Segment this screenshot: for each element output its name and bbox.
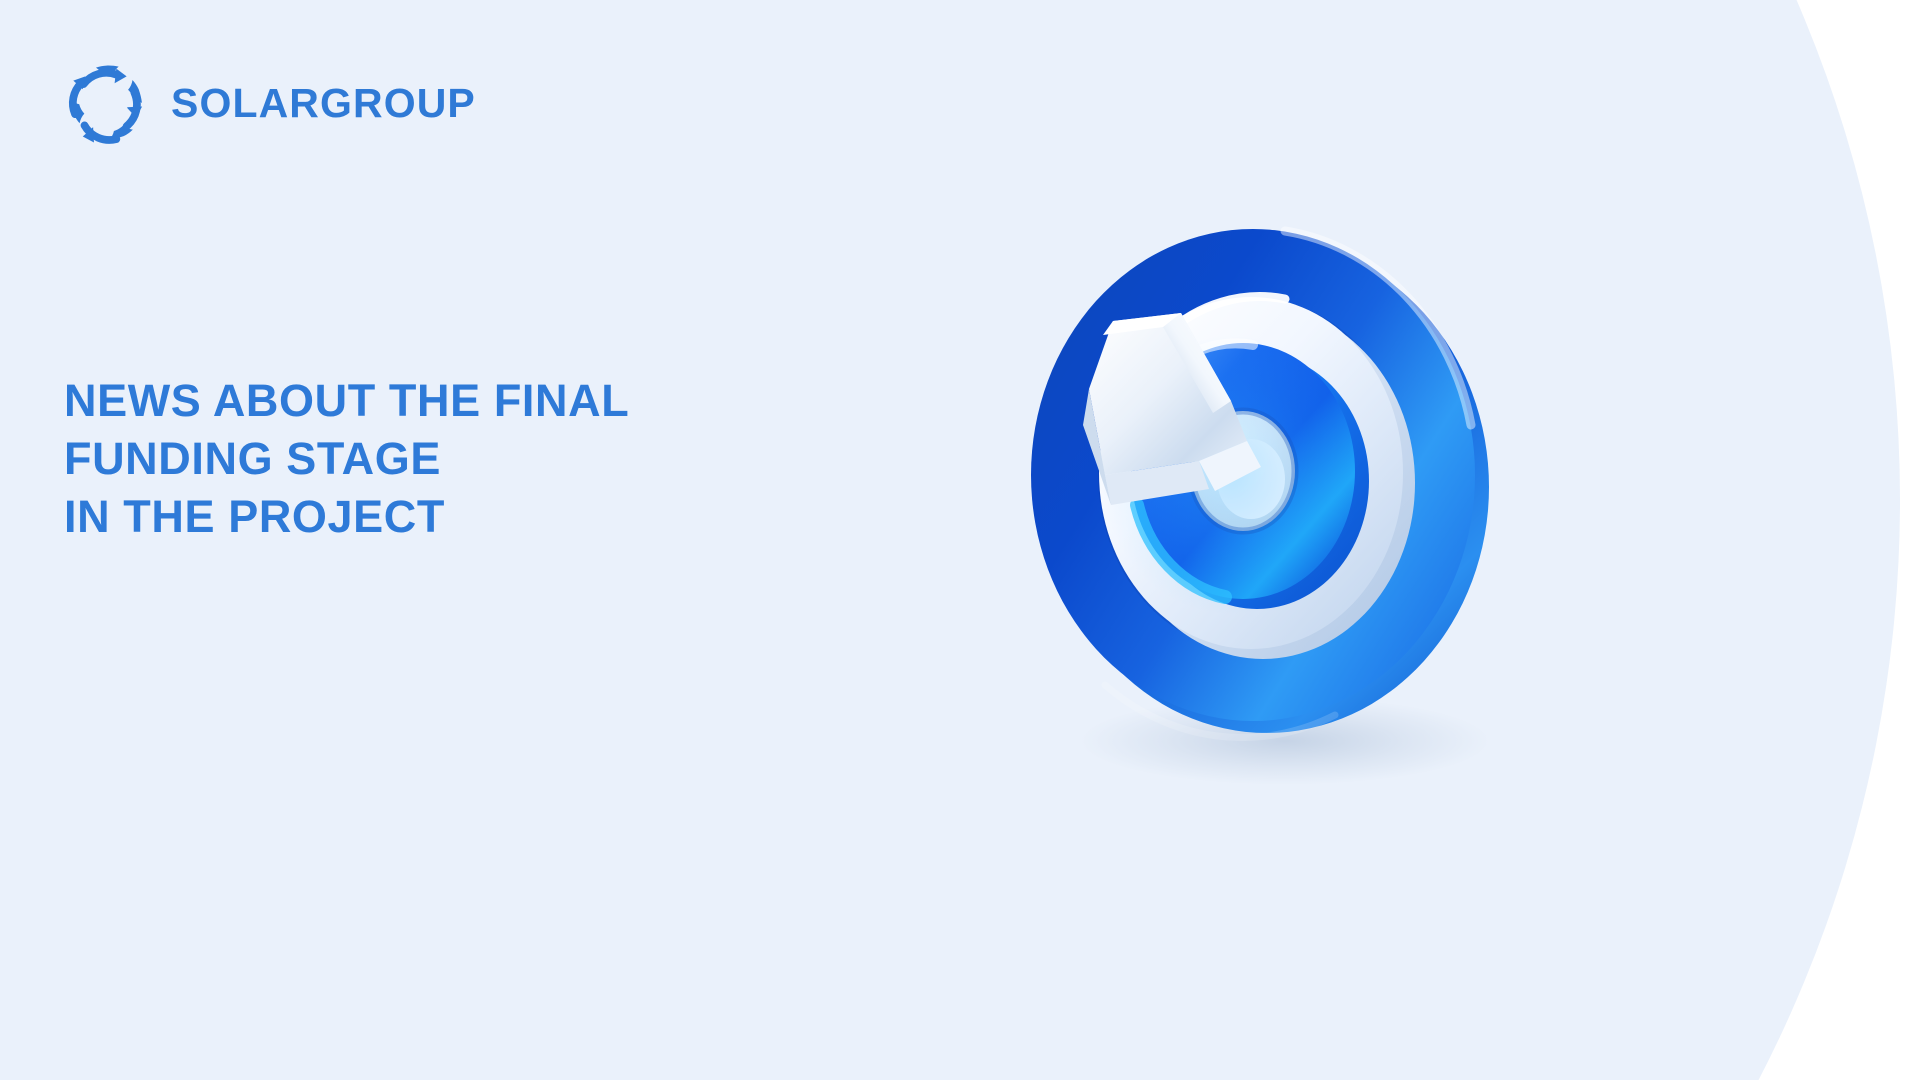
headline-line-3: IN THE PROJECT <box>64 488 884 546</box>
brand-logo[interactable]: SOLARGROUP <box>63 60 476 146</box>
headline-line-2: FUNDING STAGE <box>64 430 884 488</box>
solar-swirl-icon <box>63 60 149 146</box>
brand-wordmark: SOLARGROUP <box>171 83 476 124</box>
concentric-3d-rings-illustration <box>985 175 1525 795</box>
page-title: NEWS ABOUT THE FINAL FUNDING STAGE IN TH… <box>64 372 884 546</box>
slide-canvas: SOLARGROUP NEWS ABOUT THE FINAL FUNDING … <box>0 0 1920 1080</box>
headline-line-1: NEWS ABOUT THE FINAL <box>64 372 884 430</box>
